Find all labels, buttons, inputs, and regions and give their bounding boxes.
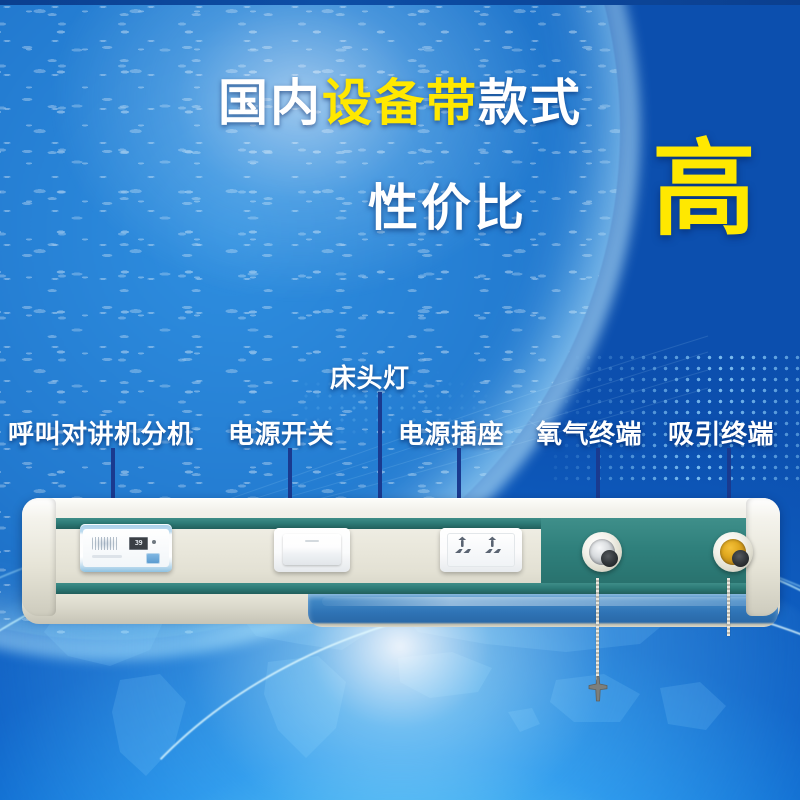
intercom-faceplate: 39 xyxy=(83,529,169,567)
oxygen-terminal-core xyxy=(589,539,615,565)
oxygen-terminal[interactable] xyxy=(582,532,622,572)
promo-banner: 国内设备带款式 性价比 高 呼叫对讲机分机 电源开关 床头灯 电源插座 氧气终端… xyxy=(0,0,800,800)
medical-bed-head-unit: 39 xyxy=(22,498,780,630)
panel-end-cap-left xyxy=(22,498,56,616)
speaker-grille-icon xyxy=(92,537,118,550)
rocker-switch[interactable] xyxy=(283,534,341,565)
oxygen-terminal-port xyxy=(601,550,618,567)
panel-light-gloss xyxy=(322,597,752,606)
annotation-overlay xyxy=(0,0,800,800)
pull-cord-oxygen[interactable] xyxy=(596,578,599,688)
intercom-display: 39 xyxy=(129,537,148,550)
suction-terminal-core xyxy=(720,539,746,565)
suction-terminal[interactable] xyxy=(713,532,753,572)
power-socket-plate[interactable] xyxy=(440,528,522,572)
nurse-call-intercom[interactable]: 39 xyxy=(80,524,172,572)
intercom-call-button[interactable] xyxy=(146,553,160,564)
intercom-trim-bar xyxy=(92,555,122,558)
pull-cord-weight-icon[interactable] xyxy=(586,676,610,702)
suction-terminal-port xyxy=(732,550,749,567)
socket-slots-icon xyxy=(447,533,515,567)
panel-stripe-bottom xyxy=(56,583,746,594)
pull-cord-suction[interactable] xyxy=(727,578,730,636)
indicator-led-icon xyxy=(152,540,156,544)
socket-faceplate xyxy=(447,533,515,567)
power-switch-plate[interactable] xyxy=(274,528,350,572)
